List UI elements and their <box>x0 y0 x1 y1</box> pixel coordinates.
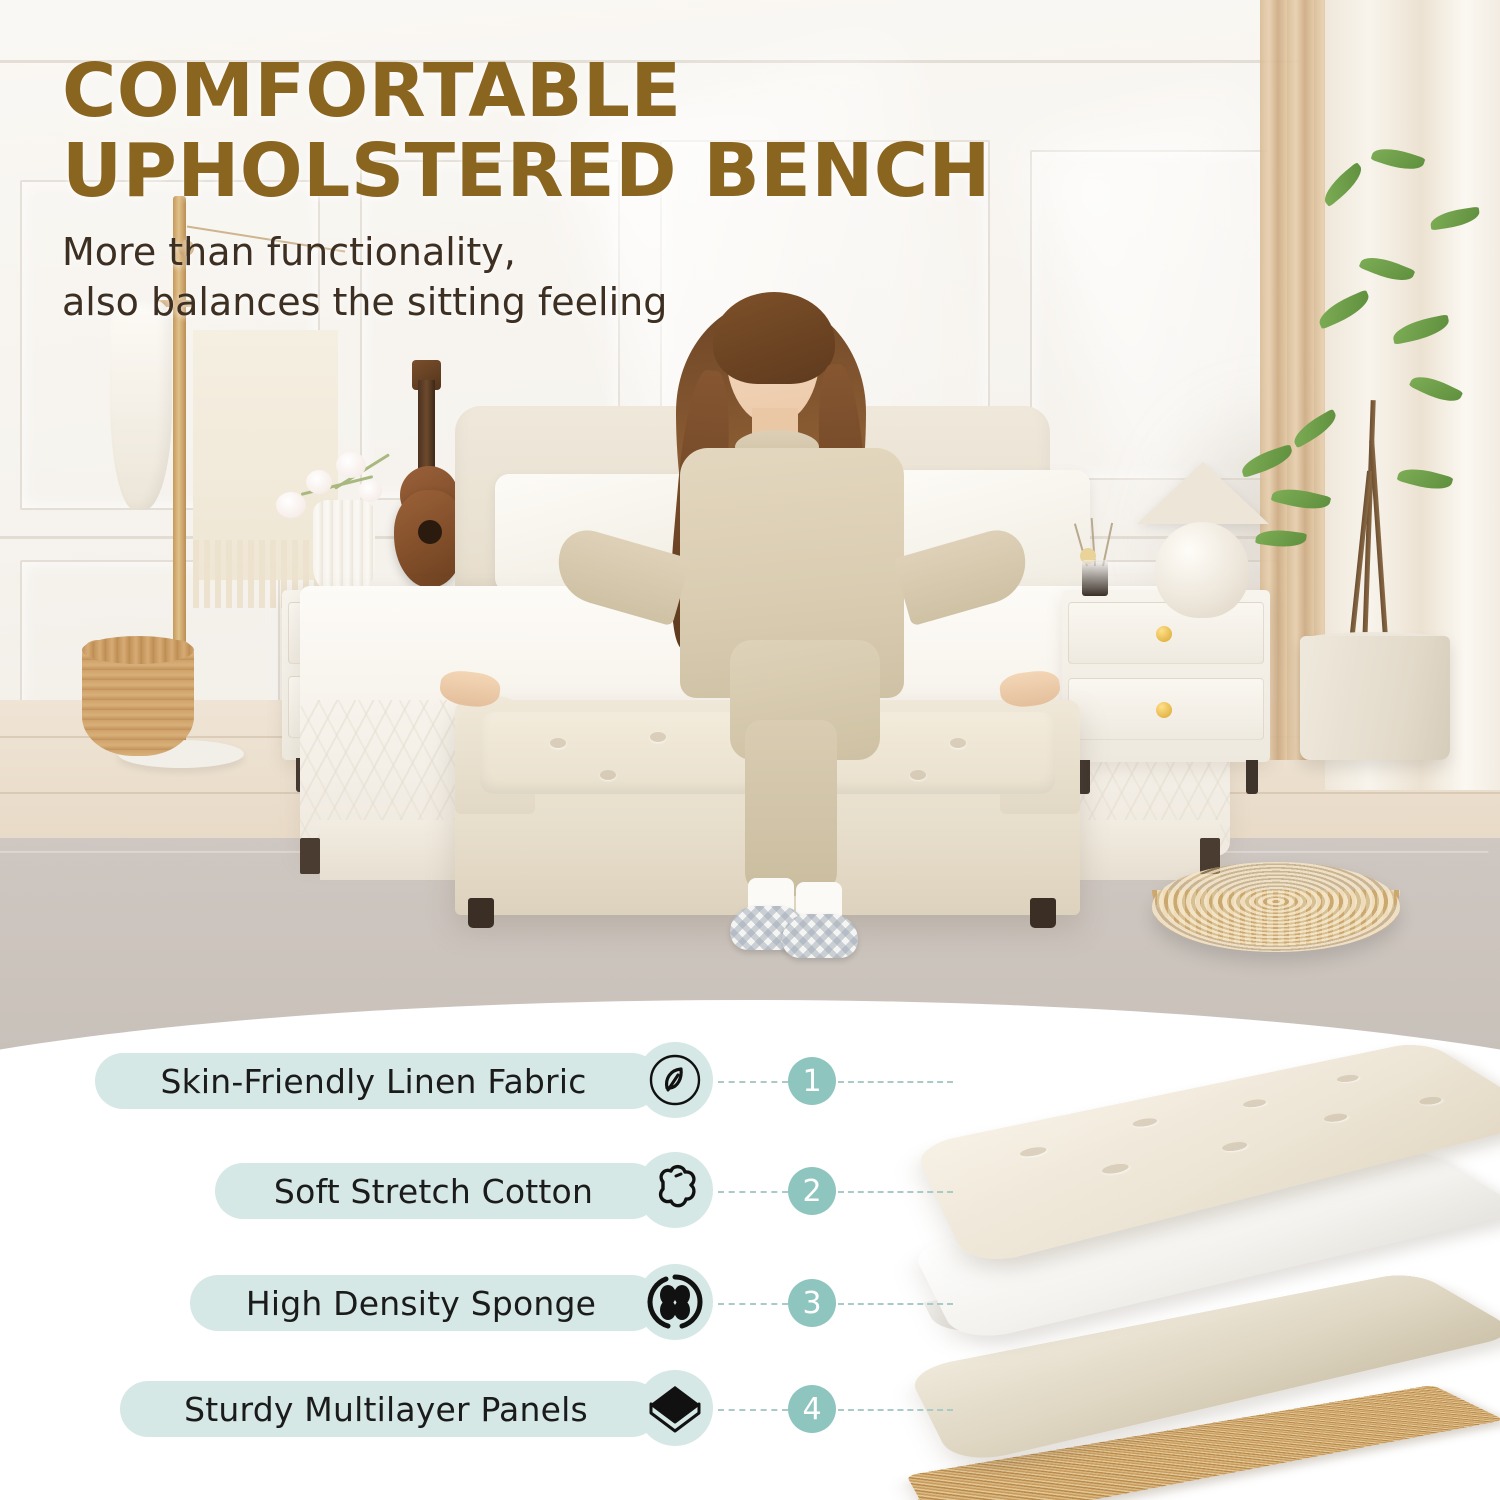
feature-pill[interactable]: High Density Sponge <box>190 1275 660 1331</box>
feature-row[interactable]: Soft Stretch Cotton 2 <box>0 1160 900 1222</box>
orchid-flower <box>276 492 306 518</box>
panel-icon <box>637 1370 713 1446</box>
subheadline-line-1: More than functionality, <box>62 228 1162 277</box>
nightstand-leg <box>1246 760 1258 794</box>
feature-row[interactable]: High Density Sponge 3 <box>0 1272 900 1334</box>
subheadline-line-2: also balances the sitting feeling <box>62 278 1162 327</box>
feature-row[interactable]: Skin-Friendly Linen Fabric 1 <box>0 1050 900 1112</box>
feature-label: Soft Stretch Cotton <box>274 1172 593 1211</box>
headline-line-2: UPHOLSTERED BENCH <box>62 132 1162 212</box>
connector-dash <box>838 1191 953 1193</box>
connector-dash <box>718 1409 788 1411</box>
connector-dash <box>718 1303 788 1305</box>
feature-label: High Density Sponge <box>246 1284 596 1323</box>
woven-pouf <box>1152 862 1400 952</box>
plant-pot <box>1300 636 1450 760</box>
ukulele-neck <box>418 380 435 480</box>
model-leg-lower <box>745 720 837 896</box>
feature-label: Sturdy Multilayer Panels <box>184 1390 588 1429</box>
feature-pill[interactable]: Sturdy Multilayer Panels <box>120 1381 660 1437</box>
feature-pill[interactable]: Skin-Friendly Linen Fabric <box>95 1053 660 1109</box>
feature-number-badge: 4 <box>788 1385 836 1433</box>
feature-number-badge: 1 <box>788 1057 836 1105</box>
headline-block: COMFORTABLE UPHOLSTERED BENCH More than … <box>62 52 1162 327</box>
nightstand-right <box>1062 590 1270 762</box>
ukulele-soundhole <box>418 520 442 544</box>
reed-diffuser <box>1082 560 1108 596</box>
leaf-icon <box>637 1042 713 1118</box>
connector-dash <box>718 1081 788 1083</box>
table-lamp-base <box>1155 522 1249 618</box>
bench-leg <box>468 898 494 928</box>
cushion-layer-stack-diagram <box>900 1010 1500 1500</box>
marketing-infographic: COMFORTABLE UPHOLSTERED BENCH More than … <box>0 0 1500 1500</box>
connector-dash <box>838 1409 953 1411</box>
woven-basket-rim <box>82 636 194 664</box>
orchid-vase <box>313 500 375 592</box>
sponge-icon <box>637 1264 713 1340</box>
feature-number-badge: 3 <box>788 1279 836 1327</box>
bench-leg <box>1030 898 1056 928</box>
hanging-cloth <box>110 300 172 510</box>
cotton-icon <box>637 1152 713 1228</box>
headline-line-1: COMFORTABLE <box>62 52 1162 132</box>
orchid-flower <box>358 480 382 502</box>
connector-dash <box>838 1303 953 1305</box>
feature-pill[interactable]: Soft Stretch Cotton <box>215 1163 660 1219</box>
feature-label: Skin-Friendly Linen Fabric <box>160 1062 586 1101</box>
feature-number-badge: 2 <box>788 1167 836 1215</box>
connector-dash <box>838 1081 953 1083</box>
connector-dash <box>718 1191 788 1193</box>
feature-row[interactable]: Sturdy Multilayer Panels 4 <box>0 1378 900 1440</box>
orchid-flower <box>336 452 366 478</box>
slipper-right <box>782 914 858 958</box>
bed-leg <box>300 838 320 874</box>
orchid-flower <box>306 470 332 494</box>
feature-list: Skin-Friendly Linen Fabric 1 Soft Stretc… <box>0 1000 900 1500</box>
